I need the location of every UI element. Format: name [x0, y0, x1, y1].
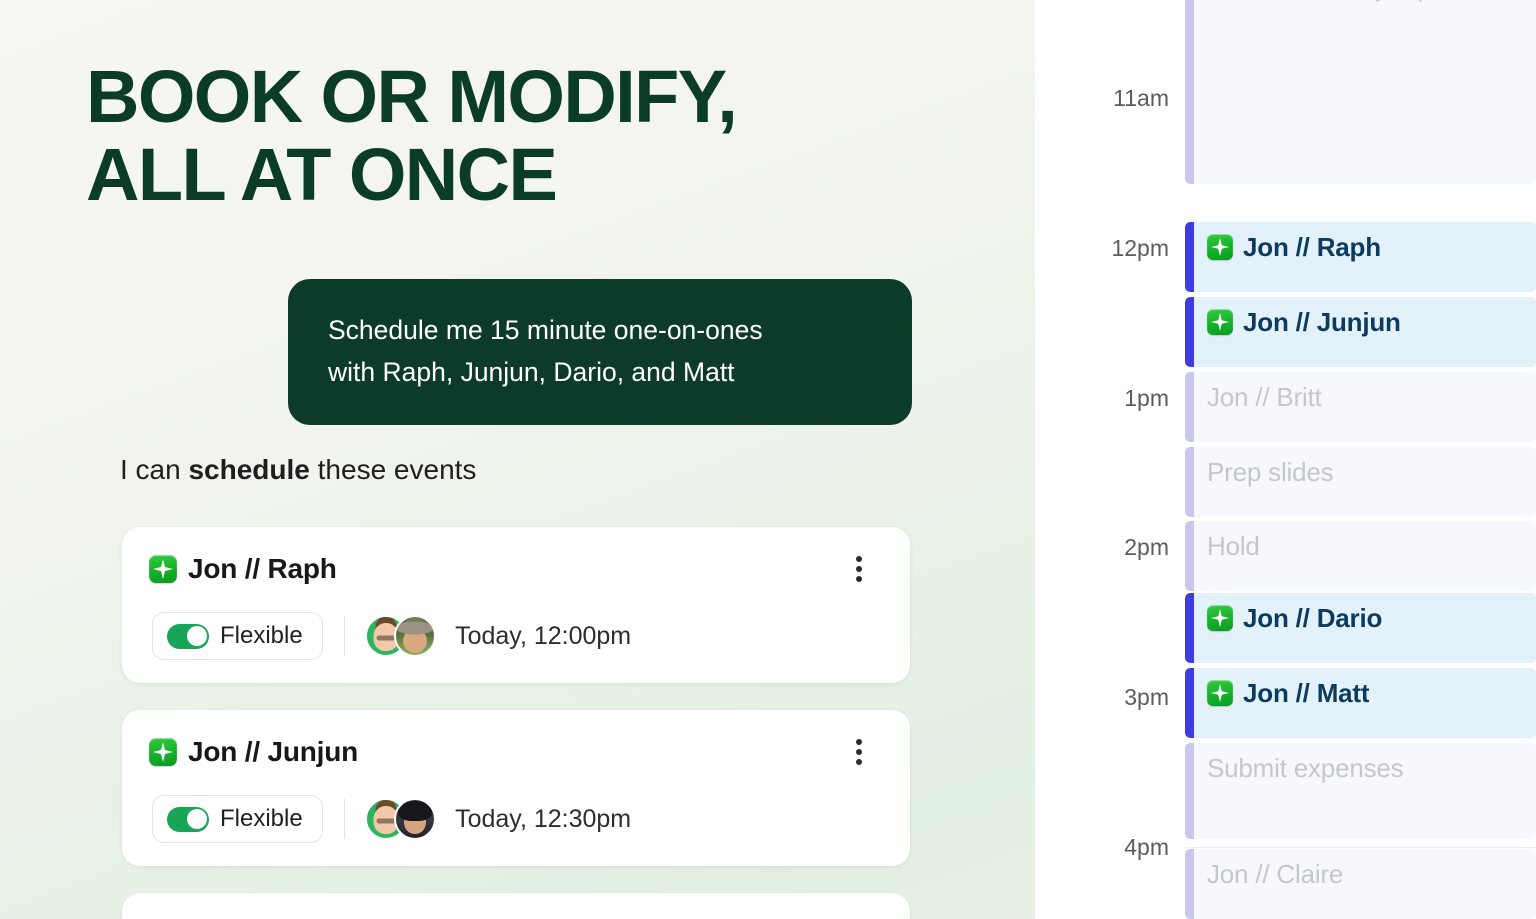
toggle-switch-icon[interactable]: [167, 624, 209, 649]
toggle-switch-icon[interactable]: [167, 807, 209, 832]
calendar-event[interactable]: Jon // Britt: [1185, 372, 1536, 442]
calendar-event-accent-bar: [1185, 593, 1194, 663]
kebab-dot: [856, 749, 862, 755]
calendar-event-content: Jon // Britt: [1185, 381, 1536, 413]
reply-prefix: I can: [120, 454, 188, 485]
calendar-event-accent-bar: [1185, 743, 1194, 839]
attendee-avatars: [365, 797, 436, 841]
calendar-event-content: Hold: [1185, 530, 1536, 562]
headline-line-2: All at once: [86, 136, 986, 214]
avatar: [394, 615, 436, 657]
calendar-event-title: Jon // Dario: [1243, 602, 1382, 634]
event-card[interactable]: Jon // Raph Flexible Today, 12:00pm: [122, 527, 910, 683]
calendar-event-title: Jon // Matt: [1243, 677, 1369, 709]
calendar-hour-label: 12pm: [1111, 236, 1169, 260]
event-card-time: Today, 12:30pm: [455, 804, 631, 834]
calendar-event-accent-bar: [1185, 372, 1194, 442]
sparkle-icon: [1207, 309, 1233, 335]
flexible-toggle[interactable]: Flexible: [152, 612, 323, 660]
page-root: Book or modify, All at once Schedule me …: [0, 0, 1536, 919]
calendar-hour-label: 2pm: [1124, 535, 1169, 559]
flexible-toggle-label: Flexible: [220, 622, 303, 650]
calendar-event-title: Jon // Junjun: [1243, 306, 1401, 338]
calendar-event-title: Hold: [1207, 530, 1260, 562]
kebab-dot: [856, 739, 862, 745]
kebab-dot: [856, 576, 862, 582]
calendar-hour-label: 11am: [1113, 86, 1169, 110]
calendar-event-content: Submit expenses: [1185, 752, 1536, 784]
sparkle-icon: [1207, 680, 1233, 706]
left-content-panel: Book or modify, All at once Schedule me …: [0, 0, 1035, 919]
calendar-grid: Review monthly reportsJon // RaphJon // …: [1185, 0, 1536, 919]
prompt-line-1: Schedule me 15 minute one-on-ones: [328, 309, 876, 351]
calendar-event[interactable]: Submit expenses: [1185, 743, 1536, 839]
calendar-event-content: Jon // Matt: [1185, 677, 1536, 709]
calendar-event[interactable]: Jon // Matt: [1185, 668, 1536, 738]
kebab-dot: [856, 759, 862, 765]
calendar-event-accent-bar: [1185, 297, 1194, 367]
calendar-event[interactable]: Jon // Junjun: [1185, 297, 1536, 367]
event-card[interactable]: [122, 893, 910, 919]
calendar-event-content: Jon // Raph: [1185, 231, 1536, 263]
calendar-time-gutter: 11am12pm1pm2pm3pm4pm: [1035, 0, 1185, 919]
calendar-event-accent-bar: [1185, 447, 1194, 517]
headline-line-1: Book or modify,: [86, 58, 986, 136]
calendar-event-content: Review monthly reports: [1185, 0, 1536, 4]
kebab-dot: [856, 556, 862, 562]
calendar-event-content: Prep slides: [1185, 456, 1536, 488]
kebab-dot: [856, 566, 862, 572]
calendar-event-accent-bar: [1185, 521, 1194, 591]
calendar-hour-label: 4pm: [1124, 835, 1169, 859]
sparkle-icon: [1207, 234, 1233, 260]
sparkle-icon: [149, 555, 177, 583]
calendar-event-content: Jon // Junjun: [1185, 306, 1536, 338]
event-card-meta: Flexible Today, 12:00pm: [152, 612, 631, 660]
calendar-event-title: Jon // Britt: [1207, 381, 1322, 413]
kebab-menu-icon[interactable]: [846, 737, 872, 767]
calendar-event-title: Prep slides: [1207, 456, 1333, 488]
calendar-event-title: Review monthly reports: [1207, 0, 1474, 4]
calendar-event-title: Submit expenses: [1207, 752, 1403, 784]
calendar-hour-label: 3pm: [1124, 685, 1169, 709]
event-card[interactable]: Jon // Junjun Flexible Today, 12:30pm: [122, 710, 910, 866]
flexible-toggle-label: Flexible: [220, 805, 303, 833]
calendar-hour-label: 1pm: [1124, 386, 1169, 410]
reply-suffix: these events: [310, 454, 477, 485]
calendar-gridline-hour: [1185, 847, 1536, 848]
calendar-event-accent-bar: [1185, 849, 1194, 919]
calendar-event-content: Jon // Dario: [1185, 602, 1536, 634]
calendar-event[interactable]: Prep slides: [1185, 447, 1536, 517]
calendar-event-content: Jon // Claire: [1185, 858, 1536, 890]
reply-emphasis: schedule: [188, 454, 309, 485]
calendar-event[interactable]: Hold: [1185, 521, 1536, 591]
calendar-panel: 11am12pm1pm2pm3pm4pm Review monthly repo…: [1035, 0, 1536, 919]
event-card-header: Jon // Raph: [149, 553, 337, 585]
assistant-reply-line: I can schedule these events: [120, 452, 476, 488]
sparkle-icon: [1207, 605, 1233, 631]
event-card-meta: Flexible Today, 12:30pm: [152, 795, 631, 843]
flexible-toggle[interactable]: Flexible: [152, 795, 323, 843]
kebab-menu-icon[interactable]: [846, 554, 872, 584]
event-card-title: Jon // Junjun: [188, 736, 358, 768]
calendar-event[interactable]: Jon // Raph: [1185, 222, 1536, 292]
prompt-line-2: with Raph, Junjun, Dario, and Matt: [328, 351, 876, 393]
calendar-event[interactable]: Jon // Dario: [1185, 593, 1536, 663]
calendar-event-title: Jon // Raph: [1243, 231, 1381, 263]
meta-divider: [344, 616, 345, 656]
calendar-event[interactable]: Review monthly reports: [1185, 0, 1536, 184]
meta-divider: [344, 799, 345, 839]
calendar-event-accent-bar: [1185, 668, 1194, 738]
page-headline: Book or modify, All at once: [86, 58, 986, 214]
calendar-event-accent-bar: [1185, 0, 1194, 184]
event-card-time: Today, 12:00pm: [455, 621, 631, 651]
calendar-event-title: Jon // Claire: [1207, 858, 1343, 890]
attendee-avatars: [365, 614, 436, 658]
calendar-event-accent-bar: [1185, 222, 1194, 292]
sparkle-icon: [149, 738, 177, 766]
avatar: [394, 798, 436, 840]
user-prompt-bubble: Schedule me 15 minute one-on-ones with R…: [288, 279, 912, 425]
event-card-title: Jon // Raph: [188, 553, 337, 585]
calendar-event[interactable]: Jon // Claire: [1185, 849, 1536, 919]
event-card-header: Jon // Junjun: [149, 736, 358, 768]
